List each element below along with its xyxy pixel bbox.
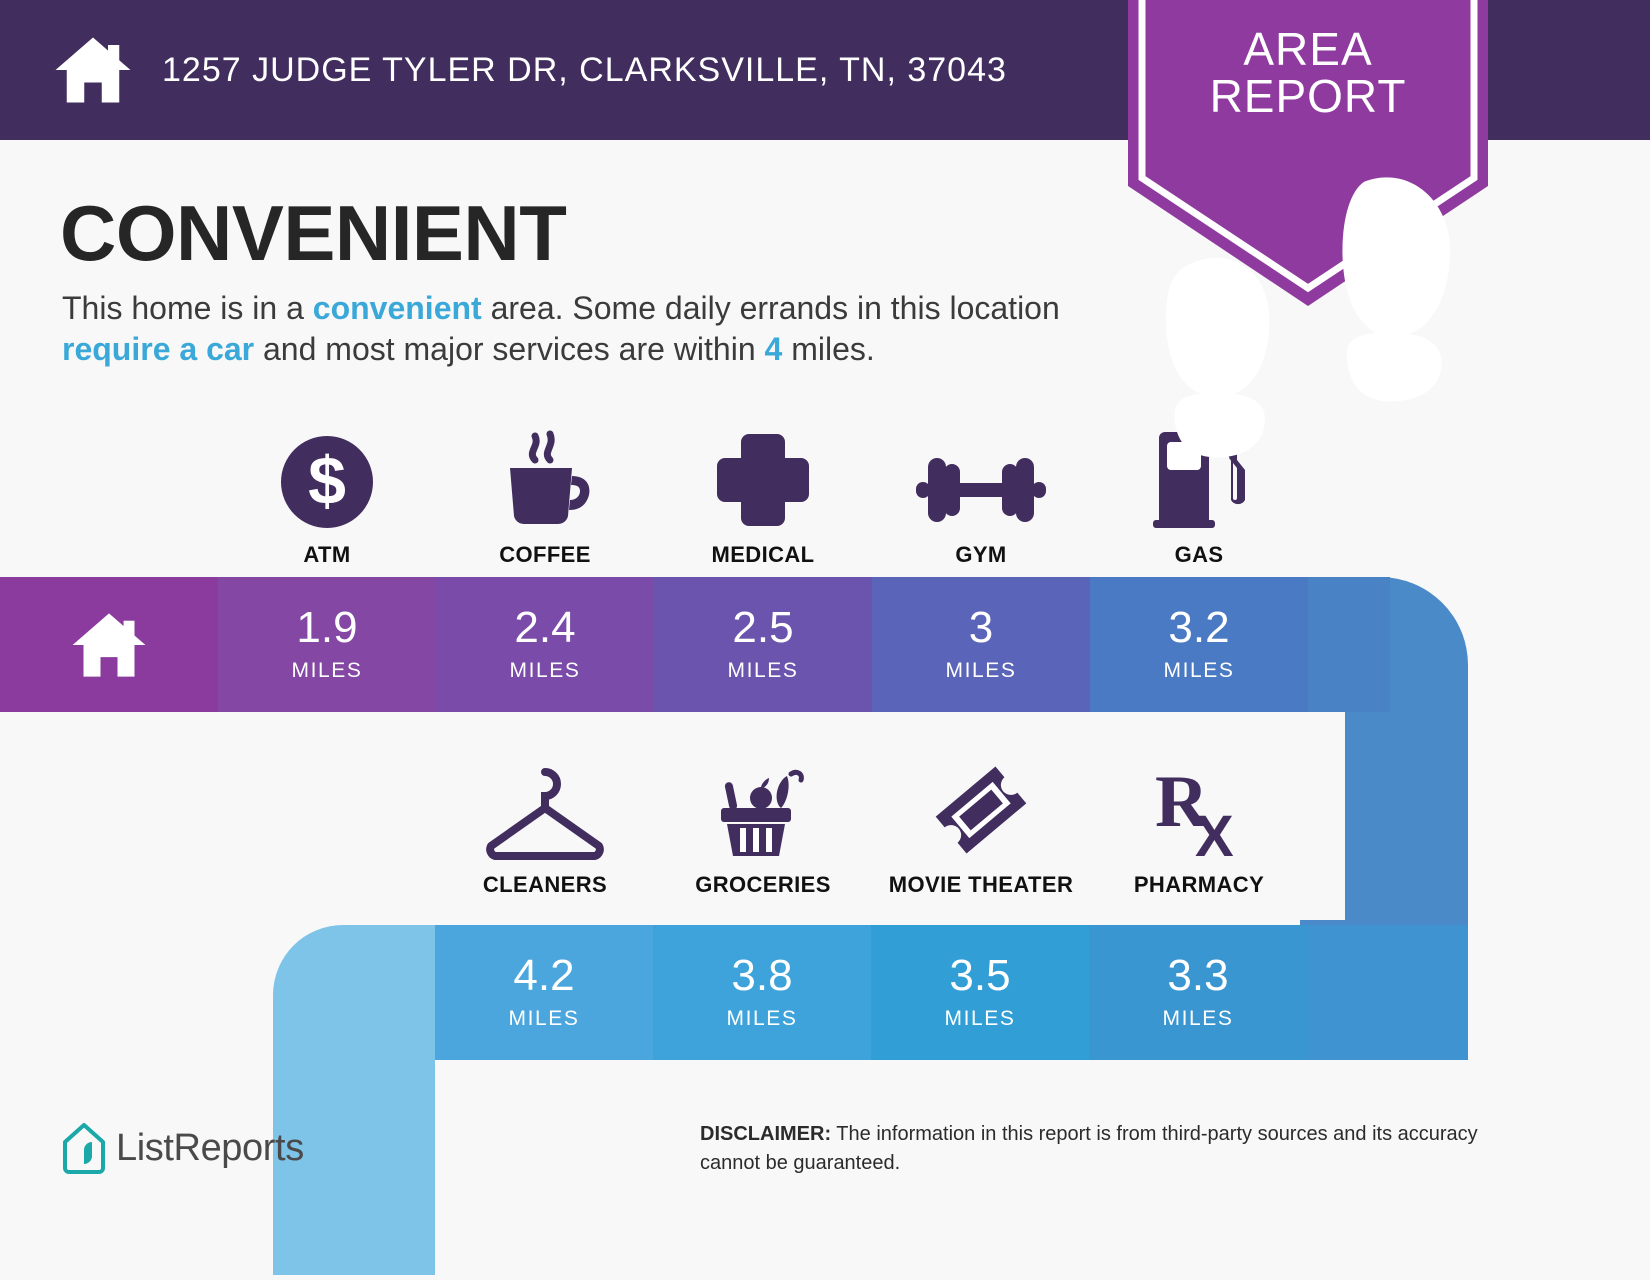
svg-text:$: $ — [308, 443, 346, 519]
medical-cross-icon — [654, 430, 872, 530]
distance-cell-groceries: 3.8 MILES — [653, 925, 871, 1060]
amenity-label: MOVIE THEATER — [872, 872, 1090, 898]
distance-unit: MILES — [291, 659, 362, 683]
listreports-logo-icon — [62, 1122, 106, 1174]
disclaimer-label: DISCLAIMER: — [700, 1123, 831, 1145]
dollar-coin-icon: $ — [218, 430, 436, 530]
home-marker-cell — [0, 577, 218, 712]
amenity-atm: $ ATM — [218, 430, 436, 568]
amenity-label: COFFEE — [436, 542, 654, 568]
home-icon — [52, 35, 134, 105]
home-icon — [70, 611, 148, 679]
listreports-logo[interactable]: ListReports — [62, 1122, 304, 1174]
distance-value: 3.2 — [1168, 606, 1229, 650]
amenity-icon-row-2: CLEANERS GROCERIES — [0, 760, 1650, 905]
distance-value: 1.9 — [296, 606, 357, 650]
distance-cell-gym: 3 MILES — [872, 577, 1090, 712]
distance-cell-pharmacy: 3.3 MILES — [1089, 925, 1307, 1060]
distance-value: 3.8 — [731, 954, 792, 998]
clothes-hanger-icon — [436, 760, 654, 860]
dumbbell-icon — [872, 430, 1090, 530]
distance-cell-gas: 3.2 MILES — [1090, 577, 1308, 712]
distance-cell-medical: 2.5 MILES — [654, 577, 872, 712]
distance-value: 3.5 — [949, 954, 1010, 998]
amenity-label: PHARMACY — [1090, 872, 1308, 898]
distance-value: 2.4 — [514, 606, 575, 650]
amenity-label: ATM — [218, 542, 436, 568]
badge-line2: REPORT — [1128, 73, 1488, 120]
amenity-label: MEDICAL — [654, 542, 872, 568]
logo-text: ListReports — [116, 1127, 304, 1170]
amenity-medical: MEDICAL — [654, 430, 872, 568]
movie-ticket-icon — [872, 760, 1090, 860]
amenity-gym: GYM — [872, 430, 1090, 568]
distance-unit: MILES — [727, 659, 798, 683]
ribbon-tail-row-2 — [273, 925, 435, 1060]
area-report-badge: AREA REPORT — [1128, 0, 1488, 306]
distance-cell-atm: 1.9 MILES — [218, 577, 436, 712]
footprints-icon — [1128, 156, 1488, 466]
amenity-label: GYM — [872, 542, 1090, 568]
distance-value: 3.3 — [1167, 954, 1228, 998]
distance-unit: MILES — [945, 659, 1016, 683]
distance-cell-cleaners: 4.2 MILES — [435, 925, 653, 1060]
amenity-coffee: COFFEE — [436, 430, 654, 568]
distance-cell-movie-theater: 3.5 MILES — [871, 925, 1089, 1060]
disclaimer: DISCLAIMER: The information in this repo… — [700, 1120, 1510, 1178]
amenity-cleaners: CLEANERS — [436, 760, 654, 898]
distance-unit: MILES — [1163, 659, 1234, 683]
distance-value: 4.2 — [513, 954, 574, 998]
distance-unit: MILES — [509, 659, 580, 683]
distance-unit: MILES — [726, 1007, 797, 1031]
coffee-cup-icon — [436, 430, 654, 530]
amenity-pharmacy: R X PHARMACY — [1090, 760, 1308, 898]
badge-title: AREA REPORT — [1128, 26, 1488, 120]
svg-text:X: X — [1195, 804, 1234, 860]
distance-bar-row-1: 1.9 MILES 2.4 MILES 2.5 MILES 3 MILES 3.… — [0, 577, 1308, 712]
amenity-movie-theater: MOVIE THEATER — [872, 760, 1090, 898]
distance-cell-coffee: 2.4 MILES — [436, 577, 654, 712]
distance-value: 3 — [969, 606, 993, 650]
amenity-groceries: GROCERIES — [654, 760, 872, 898]
property-address: 1257 JUDGE TYLER DR, CLARKSVILLE, TN, 37… — [162, 51, 1007, 90]
distance-unit: MILES — [1162, 1007, 1233, 1031]
distance-unit: MILES — [944, 1007, 1015, 1031]
amenity-label: GROCERIES — [654, 872, 872, 898]
grocery-basket-icon — [654, 760, 872, 860]
badge-line1: AREA — [1243, 23, 1372, 75]
distance-bar-row-2: 4.2 MILES 3.8 MILES 3.5 MILES 3.3 MILES — [435, 925, 1307, 1060]
amenity-label: GAS — [1090, 542, 1308, 568]
distance-value: 2.5 — [732, 606, 793, 650]
amenity-label: CLEANERS — [436, 872, 654, 898]
distance-unit: MILES — [508, 1007, 579, 1031]
rx-icon: R X — [1090, 760, 1308, 860]
